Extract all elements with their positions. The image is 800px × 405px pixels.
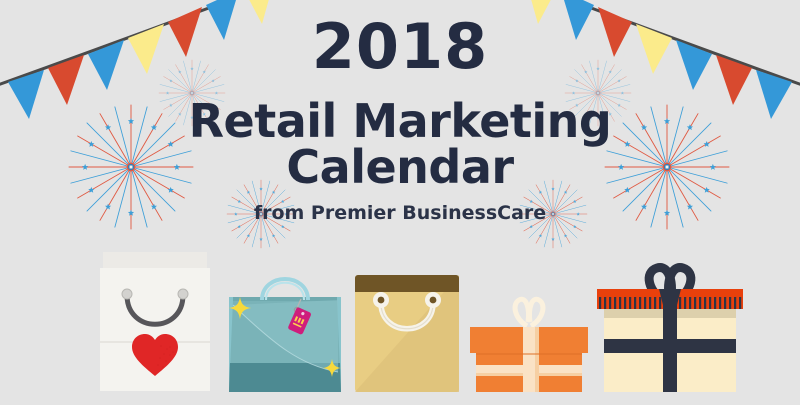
firework-top-left [159,60,225,126]
firework-subtitle-left [227,180,295,248]
white-shopping-bag-with-heart [100,252,210,391]
firework-subtitle-right [519,180,587,248]
banner-artwork [0,0,800,405]
gold-shopping-bag [355,275,459,392]
firework-top-right [565,60,631,126]
firework-right-large [605,105,729,229]
firework-left-large [69,105,193,229]
retail-marketing-calendar-banner: 2018 Retail Marketing Calendar from Prem… [0,0,800,405]
